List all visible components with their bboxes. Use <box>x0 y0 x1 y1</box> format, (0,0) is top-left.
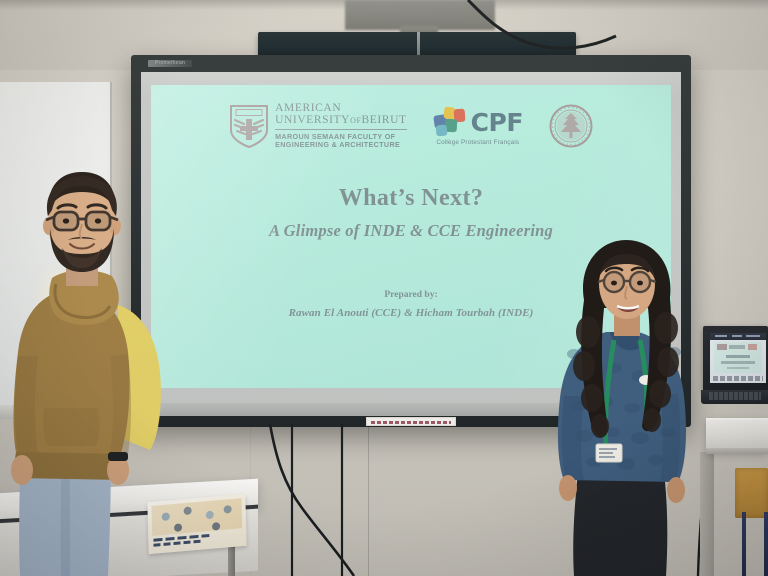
wristwatch <box>108 452 128 461</box>
chair-leg <box>742 512 746 576</box>
cpf-logo: CPF Collège Protestant Français <box>433 106 523 146</box>
aub-line-1: AMERICAN <box>275 102 407 114</box>
slide-title: What’s Next? <box>151 185 671 212</box>
aub-faculty-line-2: ENGINEERING & ARCHITECTURE <box>275 141 407 149</box>
aub-logo-text: AMERICAN UNIVERSITYOFBEIRUT MAROUN SEMAA… <box>275 102 407 149</box>
wooden-chair-back <box>735 468 768 518</box>
aub-shield-crest-icon <box>229 103 269 149</box>
presenter-left <box>0 120 210 576</box>
aub-divider-rule <box>275 129 407 130</box>
cpf-wordmark: CPF <box>471 110 523 135</box>
presenter-right <box>548 236 738 576</box>
display-brand-logo: Promethean <box>148 60 192 67</box>
cpf-subtitle: Collège Protestant Français <box>436 139 519 146</box>
cedar-tree-seal-icon <box>549 104 593 148</box>
slide-logo-row: AMERICAN UNIVERSITYOFBEIRUT MAROUN SEMAA… <box>151 95 671 157</box>
classroom-presentation-photo: Promethean <box>0 0 768 576</box>
chair-leg <box>764 512 768 576</box>
cpf-squares-mark-icon <box>433 106 467 138</box>
aub-line-1b: UNIVERSITYOFBEIRUT <box>275 114 407 127</box>
aub-university-word: UNIVERSITY <box>275 114 350 126</box>
cpf-logo-main: CPF <box>433 106 523 138</box>
aub-of-word: OF <box>350 116 361 125</box>
aub-logo: AMERICAN UNIVERSITYOFBEIRUT MAROUN SEMAA… <box>229 102 407 149</box>
aub-beirut-word: BEIRUT <box>362 114 407 126</box>
hanging-cables <box>262 424 392 576</box>
